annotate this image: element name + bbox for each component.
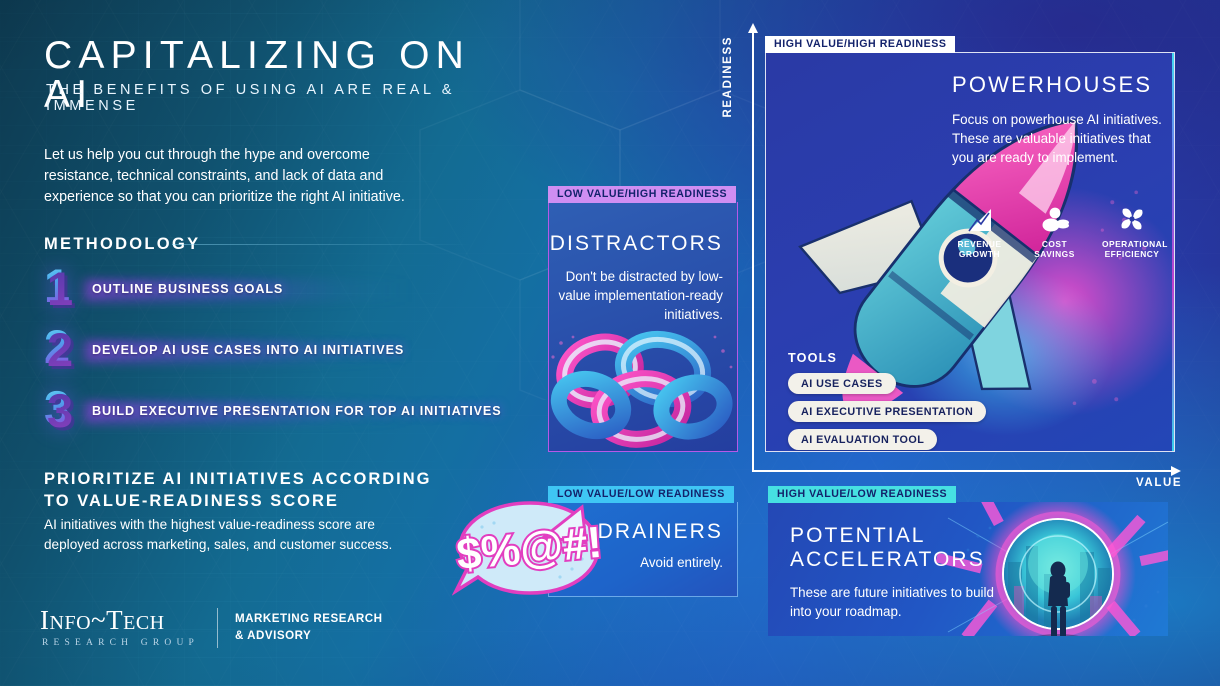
methodology-rule	[172, 244, 472, 245]
logo-i: I	[40, 605, 50, 635]
quadrant-powerhouses: HIGH VALUE/HIGH READINESS	[765, 36, 1175, 452]
quadrant-description: Focus on powerhouse AI initiatives. Thes…	[952, 110, 1167, 167]
benefit-label-line1: REVENUE	[952, 239, 1007, 249]
prioritize-heading-line2: TO VALUE-READINESS SCORE	[44, 490, 431, 512]
benefit-label-line1: COST	[1027, 239, 1082, 249]
step-label: DEVELOP AI USE CASES INTO AI INITIATIVES	[92, 343, 404, 357]
value-axis-line	[752, 470, 1172, 472]
drainers-copy: DRAINERS Avoid entirely.	[549, 520, 723, 572]
quadrant-accelerators-body: POTENTIAL ACCELERATORS These are future …	[768, 502, 1168, 636]
benefit-operational-efficiency: OPERATIONAL EFFICIENCY	[1102, 203, 1162, 259]
tangled-knot-rings-illustration	[548, 323, 738, 452]
benefit-label-line2: EFFICIENCY	[1102, 249, 1162, 259]
logo-divider	[217, 608, 218, 648]
revenue-growth-chart-icon	[952, 203, 1007, 233]
benefit-label-line2: GROWTH	[952, 249, 1007, 259]
logo-tagline-line2: & ADVISORY	[235, 628, 383, 645]
quadrant-title-line1: POTENTIAL	[790, 524, 1005, 548]
quadrant-powerhouses-body: POWERHOUSES Focus on powerhouse AI initi…	[765, 52, 1175, 452]
benefit-cost-savings: COST SAVINGS	[1027, 203, 1082, 259]
methodology-heading: METHODOLOGY	[44, 235, 200, 254]
left-content-column: CAPITALIZING ON AI THE BENEFITS OF USING…	[44, 0, 484, 686]
quadrant-title: DISTRACTORS	[549, 232, 723, 256]
quadrant-drainers-body: DRAINERS Avoid entirely.	[548, 502, 738, 597]
list-item: 1 OUTLINE BUSINESS GOALS	[44, 262, 474, 323]
distractors-copy: DISTRACTORS Don't be distracted by low-v…	[549, 232, 723, 324]
prioritize-paragraph: AI initiatives with the highest value-re…	[44, 515, 416, 556]
powerhouse-benefits-list: REVENUE GROWTH COST	[952, 203, 1162, 259]
tool-pill-ai-use-cases[interactable]: AI USE CASES	[788, 373, 896, 394]
benefit-revenue-growth: REVENUE GROWTH	[952, 203, 1007, 259]
benefit-label-line1: OPERATIONAL	[1102, 239, 1162, 249]
powerhouses-copy: POWERHOUSES Focus on powerhouse AI initi…	[952, 73, 1167, 167]
quadrant-distractors-body: DISTRACTORS Don't be distracted by low-v…	[548, 202, 738, 452]
step-label: BUILD EXECUTIVE PRESENTATION FOR TOP AI …	[92, 404, 502, 418]
logo-tagline-line1: MARKETING RESEARCH	[235, 611, 383, 628]
methodology-steps-list: 1 OUTLINE BUSINESS GOALS 2 DEVELOP AI US…	[44, 262, 474, 445]
logo-mark: INFO~TECH RESEARCH GROUP	[40, 607, 217, 648]
status-badge: HIGH VALUE/HIGH READINESS	[765, 36, 955, 53]
quadrant-distractors: LOW VALUE/HIGH READINESS DISTRACTORS Don…	[548, 186, 738, 452]
readiness-axis-line	[752, 32, 754, 472]
tools-section: TOOLS AI USE CASES AI EXECUTIVE PRESENTA…	[788, 351, 998, 452]
quadrant-title: DRAINERS	[549, 520, 723, 544]
quadrant-drainers: LOW VALUE/LOW READINESS DRAINERS Avoid e…	[548, 486, 738, 597]
benefit-label-line2: SAVINGS	[1027, 249, 1082, 259]
company-logo: INFO~TECH RESEARCH GROUP MARKETING RESEA…	[40, 607, 383, 648]
status-badge: LOW VALUE/LOW READINESS	[548, 486, 734, 503]
status-badge: HIGH VALUE/LOW READINESS	[768, 486, 956, 503]
quadrant-description: Don't be distracted by low-value impleme…	[549, 267, 723, 324]
readiness-axis-label: READINESS	[722, 36, 734, 118]
list-item: 3 BUILD EXECUTIVE PRESENTATION FOR TOP A…	[44, 384, 474, 445]
logo-tagline: MARKETING RESEARCH & ADVISORY	[235, 611, 383, 645]
quadrant-potential-accelerators: HIGH VALUE/LOW READINESS	[768, 486, 1168, 636]
tool-pill-ai-evaluation-tool[interactable]: AI EVALUATION TOOL	[788, 429, 937, 450]
quadrant-title: POWERHOUSES	[952, 73, 1167, 98]
logo-tilde: ~	[91, 605, 106, 635]
step-label: OUTLINE BUSINESS GOALS	[92, 282, 283, 296]
quadrant-title: POTENTIAL ACCELERATORS	[790, 524, 1005, 571]
logo-ech: ECH	[123, 612, 165, 634]
logo-subline: RESEARCH GROUP	[40, 638, 199, 648]
prioritize-heading: PRIORITIZE AI INITIATIVES ACCORDING TO V…	[44, 468, 431, 513]
logo-t: T	[106, 605, 123, 635]
prioritize-heading-line1: PRIORITIZE AI INITIATIVES ACCORDING	[44, 468, 431, 490]
intro-paragraph: Let us help you cut through the hype and…	[44, 145, 419, 208]
quadrant-description: These are future initiatives to build in…	[790, 583, 1005, 621]
quadrant-description: Avoid entirely.	[549, 553, 723, 572]
status-badge: LOW VALUE/HIGH READINESS	[548, 186, 736, 203]
tool-pill-ai-executive-presentation[interactable]: AI EXECUTIVE PRESENTATION	[788, 401, 986, 422]
cost-savings-coins-icon	[1027, 203, 1082, 233]
quadrant-title-line2: ACCELERATORS	[790, 548, 1005, 572]
page-subtitle: THE BENEFITS OF USING AI ARE REAL & IMME…	[46, 82, 484, 114]
panel-accent-edge	[1172, 53, 1175, 451]
accelerators-copy: POTENTIAL ACCELERATORS These are future …	[790, 524, 1005, 621]
operational-efficiency-fan-icon	[1102, 203, 1162, 233]
tools-heading: TOOLS	[788, 351, 998, 365]
logo-wordmark: INFO~TECH	[40, 607, 199, 634]
list-item: 2 DEVELOP AI USE CASES INTO AI INITIATIV…	[44, 323, 474, 384]
logo-nfo: NFO	[50, 612, 92, 634]
infographic-canvas: CAPITALIZING ON AI THE BENEFITS OF USING…	[0, 0, 1220, 686]
